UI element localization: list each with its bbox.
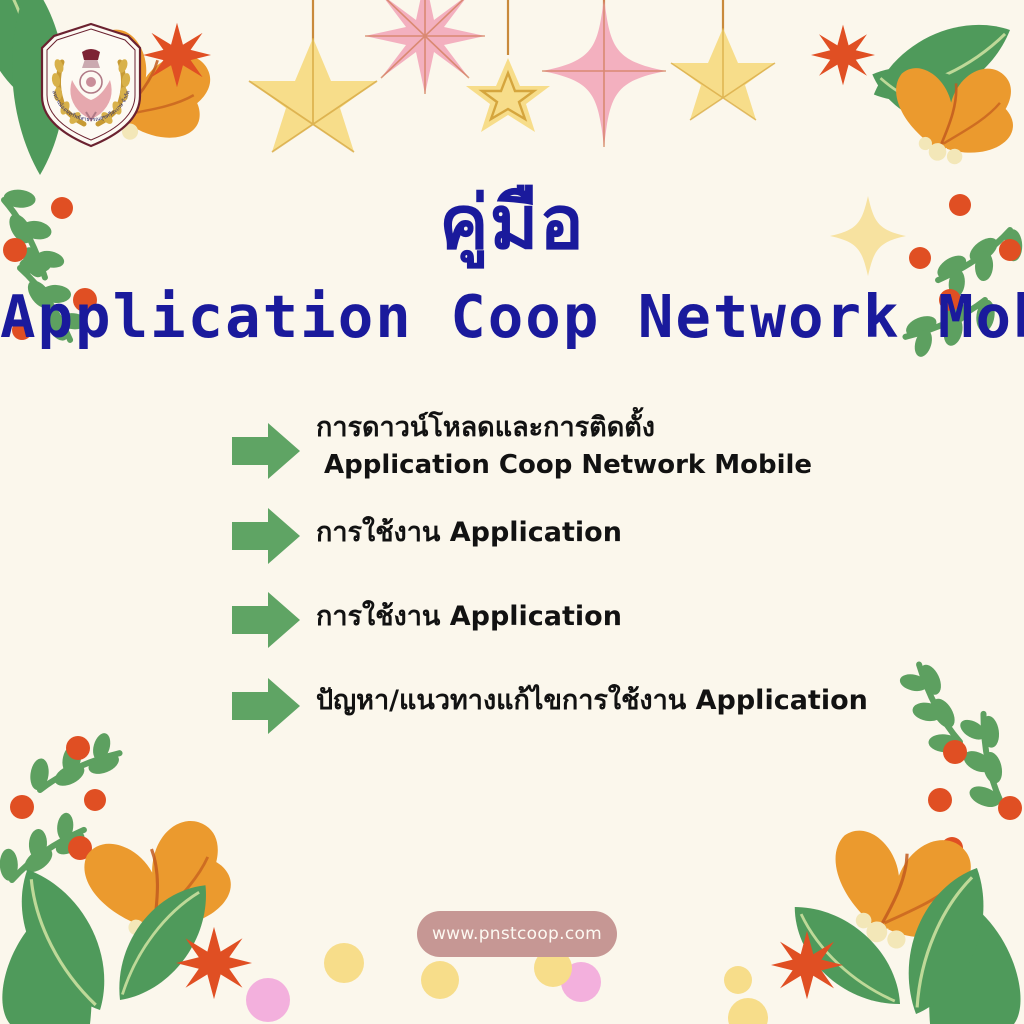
list-item-line1: การใช้งาน Application — [316, 517, 622, 548]
list-item-line1: การดาวน์โหลดและการติดตั้ง — [316, 412, 655, 443]
dot — [421, 961, 459, 999]
list-item-text: ปัญหา/แนวทางแก้ไขการใช้งาน Application — [316, 674, 868, 720]
website-url: www.pnstcoop.com — [432, 924, 602, 944]
list-item-text: การใช้งาน Application — [316, 504, 622, 552]
page-title-thai: คู่มือ — [0, 186, 1024, 260]
page-title-english: Application Coop Network Mobile — [0, 260, 1024, 351]
list-item-line2: Application Coop Network Mobile — [316, 447, 812, 484]
arrow-right-icon — [232, 676, 300, 736]
list-item-text: การใช้งาน Application — [316, 588, 622, 636]
arrow-right-icon — [232, 590, 300, 650]
hanging-star-group — [249, 0, 775, 152]
list-item-text: การดาวน์โหลดและการติดตั้ง Application Co… — [316, 405, 812, 484]
topic-list: การดาวน์โหลดและการติดตั้ง Application Co… — [232, 405, 932, 758]
arrow-right-icon — [232, 506, 300, 566]
poster-canvas: สหกรณ์ออมทรัพย์สาธารณสุขศรีสะเกษ จำกัด ค… — [0, 0, 1024, 1024]
arrow-right-icon — [232, 421, 300, 481]
website-badge[interactable]: www.pnstcoop.com — [417, 911, 617, 957]
pnstcoop-emblem: สหกรณ์ออมทรัพย์สาธารณสุขศรีสะเกษ จำกัด — [32, 22, 150, 148]
list-item: ปัญหา/แนวทางแก้ไขการใช้งาน Application — [232, 674, 932, 736]
title-block: คู่มือ Application Coop Network Mobile — [0, 186, 1024, 351]
list-item-line1: ปัญหา/แนวทางแก้ไขการใช้งาน Application — [316, 685, 868, 716]
list-item: การใช้งาน Application — [232, 504, 932, 566]
list-item: การดาวน์โหลดและการติดตั้ง Application Co… — [232, 405, 932, 484]
list-item: การใช้งาน Application — [232, 588, 932, 650]
list-item-line1: การใช้งาน Application — [316, 601, 622, 632]
